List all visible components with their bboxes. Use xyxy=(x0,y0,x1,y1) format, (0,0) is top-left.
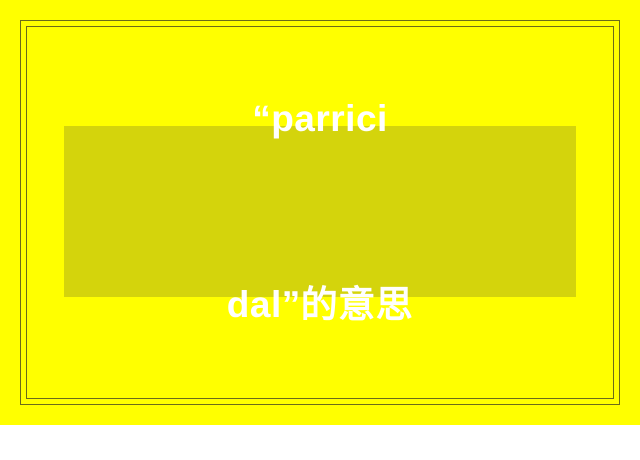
title-line-1: “parrici xyxy=(227,88,413,150)
title-block: “parrici dal”的意思 xyxy=(227,0,413,460)
title-line-2: dal”的意思 xyxy=(227,274,413,336)
poster-canvas: “parrici dal”的意思 xyxy=(0,0,640,425)
title-panel: “parrici dal”的意思 xyxy=(64,126,576,297)
